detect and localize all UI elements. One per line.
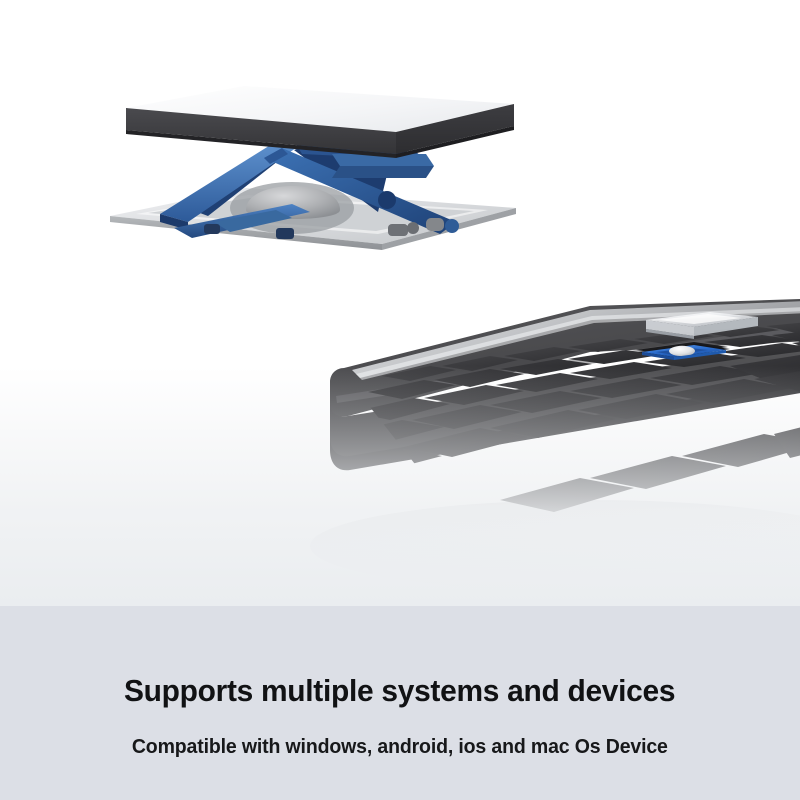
keyboard-keys xyxy=(318,321,800,512)
scissor-switch-assembly xyxy=(96,82,526,262)
keyboard xyxy=(290,300,800,606)
banner-subtitle: Compatible with windows, android, ios an… xyxy=(132,735,668,759)
switch-keycap xyxy=(126,86,514,158)
product-photo-area xyxy=(0,0,800,606)
feature-banner: Supports multiple systems and devices Co… xyxy=(0,606,800,800)
banner-heading: Supports multiple systems and devices xyxy=(124,674,675,708)
product-feature-page: Supports multiple systems and devices Co… xyxy=(0,0,800,800)
